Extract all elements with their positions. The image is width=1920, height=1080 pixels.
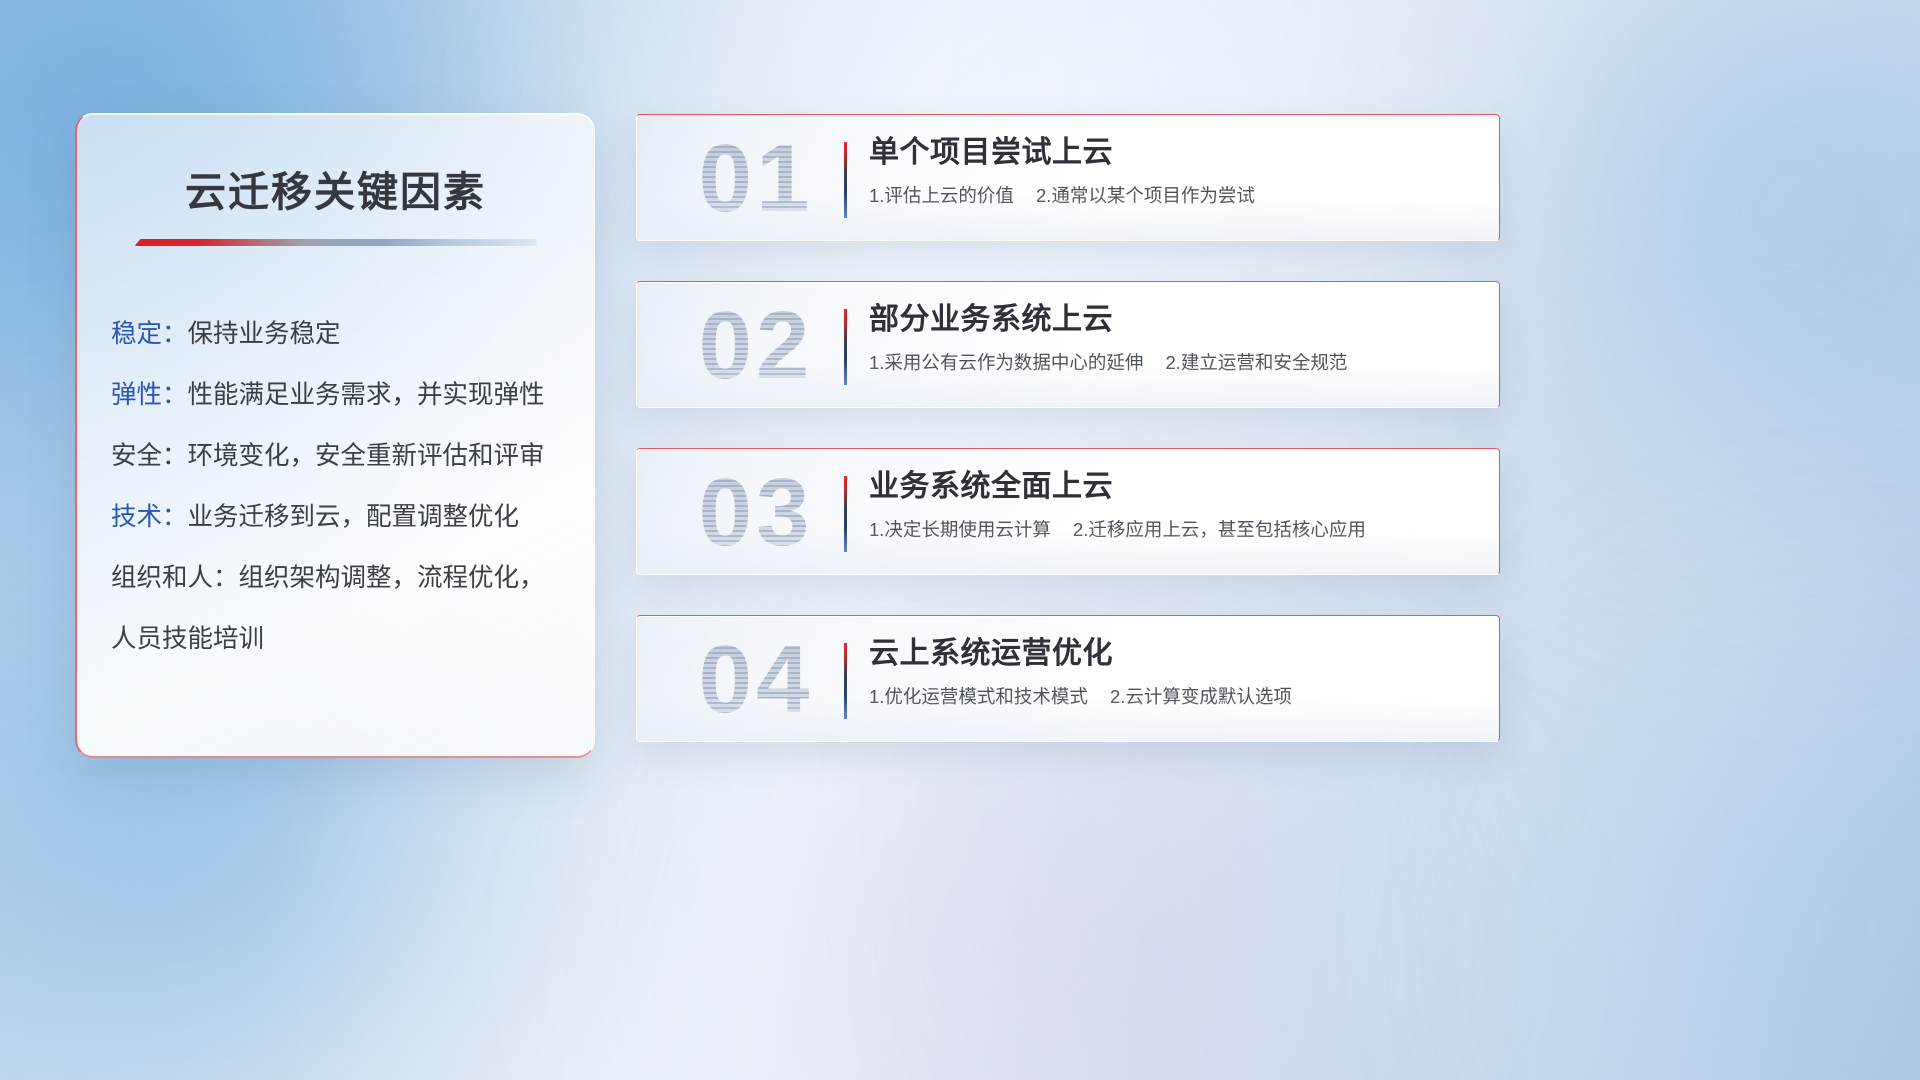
stage-point: 1.决定长期使用云计算 bbox=[869, 519, 1051, 540]
stage-number: 03 bbox=[661, 455, 851, 571]
stage-points: 1.评估上云的价值2.通常以某个项目作为尝试 bbox=[869, 182, 1481, 210]
stage-body: 部分业务系统上云1.采用公有云作为数据中心的延伸2.建立运营和安全规范 bbox=[869, 298, 1481, 377]
stage-point: 1.优化运营模式和技术模式 bbox=[869, 686, 1088, 707]
factor-row: 人员技能培训 bbox=[111, 609, 594, 670]
stage-title: 部分业务系统上云 bbox=[869, 298, 1481, 342]
factor-row: 稳定：保持业务稳定 bbox=[111, 304, 594, 365]
stage-point: 1.采用公有云作为数据中心的延伸 bbox=[869, 352, 1143, 373]
stage-point: 2.通常以某个项目作为尝试 bbox=[1036, 185, 1255, 206]
stage-body: 单个项目尝试上云1.评估上云的价值2.通常以某个项目作为尝试 bbox=[869, 131, 1481, 210]
stage-point: 2.建立运营和安全规范 bbox=[1165, 352, 1347, 373]
factor-description: 性能满足业务需求，并实现弹性 bbox=[188, 381, 545, 409]
factor-row: 技术：业务迁移到云，配置调整优化 bbox=[111, 487, 594, 548]
stage-card-list: 01单个项目尝试上云1.评估上云的价值2.通常以某个项目作为尝试02部分业务系统… bbox=[636, 114, 1500, 782]
factor-description: 环境变化，安全重新评估和评审 bbox=[188, 442, 545, 470]
factor-description: 业务迁移到云，配置调整优化 bbox=[188, 503, 520, 531]
stage-title: 业务系统全面上云 bbox=[869, 465, 1481, 509]
stage-points: 1.决定长期使用云计算2.迁移应用上云，甚至包括核心应用 bbox=[869, 516, 1481, 544]
stage-point: 2.迁移应用上云，甚至包括核心应用 bbox=[1073, 519, 1366, 540]
stage-point: 2.云计算变成默认选项 bbox=[1110, 686, 1292, 707]
factor-label: 弹性： bbox=[111, 381, 188, 409]
factor-label: 技术： bbox=[111, 503, 188, 531]
factor-label: 稳定： bbox=[111, 320, 188, 348]
stage-title: 云上系统运营优化 bbox=[869, 632, 1481, 676]
stage-point: 1.评估上云的价值 bbox=[869, 185, 1014, 206]
stage-card[interactable]: 03业务系统全面上云1.决定长期使用云计算2.迁移应用上云，甚至包括核心应用 bbox=[636, 448, 1500, 575]
stage-card[interactable]: 02部分业务系统上云1.采用公有云作为数据中心的延伸2.建立运营和安全规范 bbox=[636, 281, 1500, 408]
stage-number: 01 bbox=[661, 121, 851, 237]
factor-row: 弹性：性能满足业务需求，并实现弹性 bbox=[111, 365, 594, 426]
stage-card[interactable]: 01单个项目尝试上云1.评估上云的价值2.通常以某个项目作为尝试 bbox=[636, 114, 1500, 241]
stage-divider-bar bbox=[844, 643, 847, 719]
stage-number: 02 bbox=[661, 288, 851, 404]
panel-title: 云迁移关键因素 bbox=[77, 158, 594, 218]
stage-body: 业务系统全面上云1.决定长期使用云计算2.迁移应用上云，甚至包括核心应用 bbox=[869, 465, 1481, 544]
factor-row: 组织和人：组织架构调整，流程优化， bbox=[111, 548, 594, 609]
stage-card[interactable]: 04云上系统运营优化1.优化运营模式和技术模式2.云计算变成默认选项 bbox=[636, 615, 1500, 742]
factor-row: 安全：环境变化，安全重新评估和评审 bbox=[111, 426, 594, 487]
stage-divider-bar bbox=[844, 476, 847, 552]
factor-description: 保持业务稳定 bbox=[188, 320, 341, 348]
stage-points: 1.采用公有云作为数据中心的延伸2.建立运营和安全规范 bbox=[869, 349, 1481, 377]
title-underline-rule bbox=[135, 239, 537, 246]
stage-divider-bar bbox=[844, 309, 847, 385]
stage-title: 单个项目尝试上云 bbox=[869, 131, 1481, 175]
factor-description: 人员技能培训 bbox=[111, 625, 264, 653]
stage-points: 1.优化运营模式和技术模式2.云计算变成默认选项 bbox=[869, 683, 1481, 711]
stage-body: 云上系统运营优化1.优化运营模式和技术模式2.云计算变成默认选项 bbox=[869, 632, 1481, 711]
factor-label: 安全： bbox=[111, 442, 188, 470]
stage-divider-bar bbox=[844, 142, 847, 218]
slide-stage: 云迁移关键因素 稳定：保持业务稳定弹性：性能满足业务需求，并实现弹性安全：环境变… bbox=[0, 0, 1920, 1080]
factor-label: 组织和人： bbox=[111, 564, 239, 592]
factor-description: 组织架构调整，流程优化， bbox=[239, 564, 545, 592]
factor-list: 稳定：保持业务稳定弹性：性能满足业务需求，并实现弹性安全：环境变化，安全重新评估… bbox=[111, 304, 594, 670]
stage-number: 04 bbox=[661, 622, 851, 738]
key-factors-panel: 云迁移关键因素 稳定：保持业务稳定弹性：性能满足业务需求，并实现弹性安全：环境变… bbox=[75, 113, 595, 758]
